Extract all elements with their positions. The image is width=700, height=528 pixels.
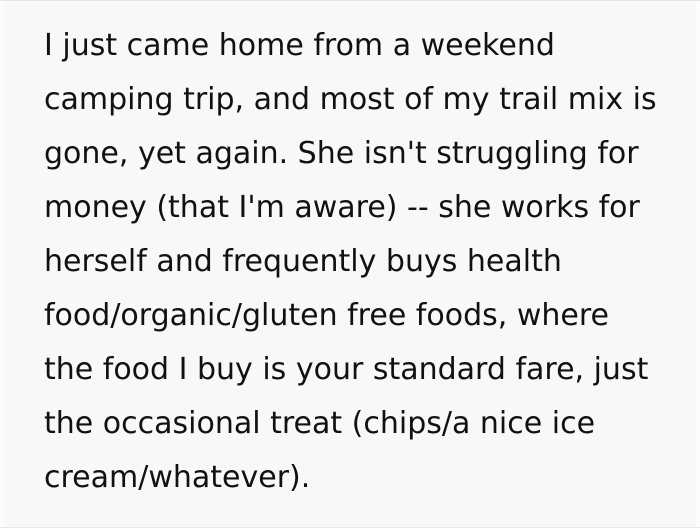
left-gutter-strip <box>0 1 4 527</box>
story-paragraph: I just came home from a weekend camping … <box>44 19 664 505</box>
right-gutter-strip <box>696 1 700 527</box>
story-body: I just came home from a weekend camping … <box>44 19 664 505</box>
text-excerpt-panel: I just came home from a weekend camping … <box>0 0 700 528</box>
